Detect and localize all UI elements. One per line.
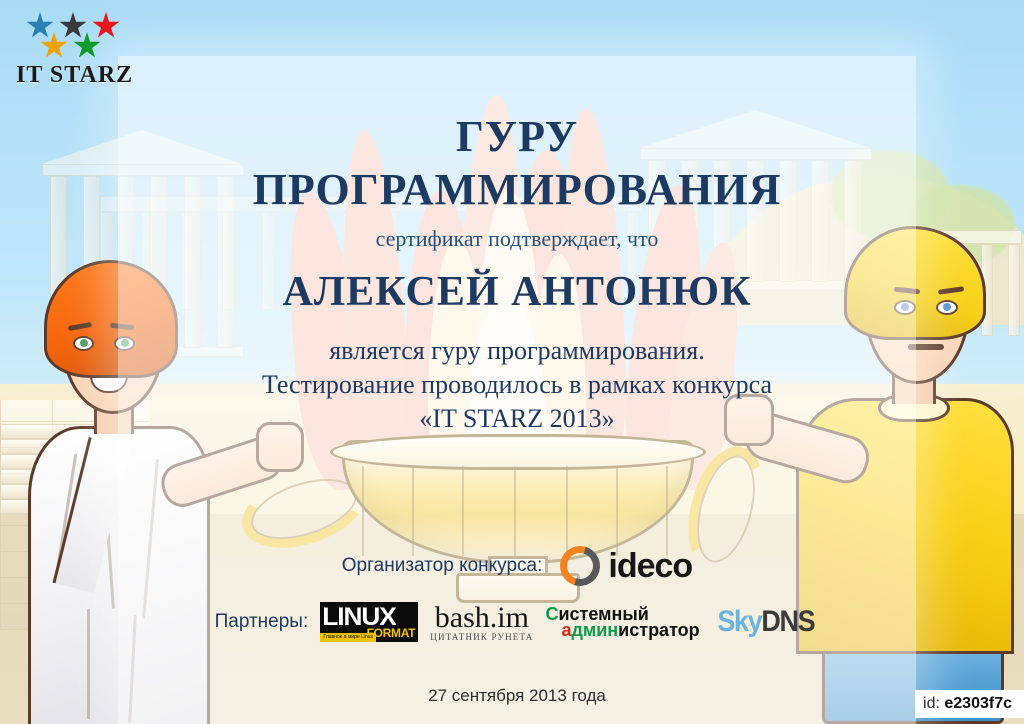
man-eye xyxy=(936,300,958,315)
sysadmin-logo: Системный администратор xyxy=(545,605,699,639)
recipient-name: АЛЕКСЕЙ АНТОНЮК xyxy=(118,268,916,316)
skydns-part2: DNS xyxy=(761,605,814,638)
id-value: e2303f7c xyxy=(944,695,1012,712)
toga-fold xyxy=(87,609,90,719)
partners-row: Партнеры: LINUX FORMAT Главное в мире Li… xyxy=(118,602,916,642)
id-label: id: xyxy=(923,695,940,712)
woman-eye xyxy=(73,336,94,351)
organizer-row: Организатор конкурса: ideco xyxy=(118,546,916,586)
body-line-1: является гуру программирования. xyxy=(118,334,916,368)
body-line-3: «IT STARZ 2013» xyxy=(118,402,916,436)
issue-date: 27 сентября 2013 года xyxy=(118,686,916,706)
star-green-icon xyxy=(73,32,101,60)
logo-wordmark: IT STARZ xyxy=(16,62,133,89)
ideco-logo: ideco xyxy=(560,546,692,586)
certificate-content: ГУРУ ПРОГРАММИРОВАНИЯ сертификат подтвер… xyxy=(118,56,916,724)
linux-format-tagline: Главное в мире Linux xyxy=(320,633,376,642)
bash-im-wordmark: bash.im xyxy=(430,603,533,633)
sysadmin-line2: администратор xyxy=(545,621,699,639)
skydns-part1: Sky xyxy=(717,605,761,638)
partners-label: Партнеры: xyxy=(215,611,309,633)
certificate-id-badge: id: e2303f7c xyxy=(915,690,1024,718)
bash-im-tagline: ЦИТАТНИК РУНЕТА xyxy=(430,633,533,642)
certificate-title-line1: ГУРУ xyxy=(118,111,916,162)
skydns-logo: SkyDNS xyxy=(717,605,814,639)
certificate-body: является гуру программирования. Тестиров… xyxy=(118,334,916,436)
certificate-title-line2: ПРОГРАММИРОВАНИЯ xyxy=(118,164,916,215)
certificate-confirm-text: сертификат подтверждает, что xyxy=(118,226,916,252)
logo-stars-bottom xyxy=(40,32,101,60)
certificate-canvas: IT STARZ ГУРУ ПРОГРАММИРОВАНИЯ сертифика… xyxy=(0,0,1024,724)
bash-im-logo: bash.im ЦИТАТНИК РУНЕТА xyxy=(430,603,533,642)
body-line-2: Тестирование проводилось в рамках конкур… xyxy=(118,368,916,402)
it-starz-logo: IT STARZ xyxy=(12,12,116,98)
ideco-ring-icon xyxy=(560,546,600,586)
sysadmin-line2-accent: а xyxy=(561,620,571,640)
organizer-label: Организатор конкурса: xyxy=(342,555,543,577)
sysadmin-line1-accent: С xyxy=(545,604,558,624)
linux-format-logo: LINUX FORMAT Главное в мире Linux xyxy=(320,602,418,642)
ideco-wordmark: ideco xyxy=(608,547,692,586)
sysadmin-line2-rest: истратор xyxy=(618,620,699,640)
sysadmin-line2-mid: дмин xyxy=(571,620,618,640)
star-orange-icon xyxy=(40,32,68,60)
